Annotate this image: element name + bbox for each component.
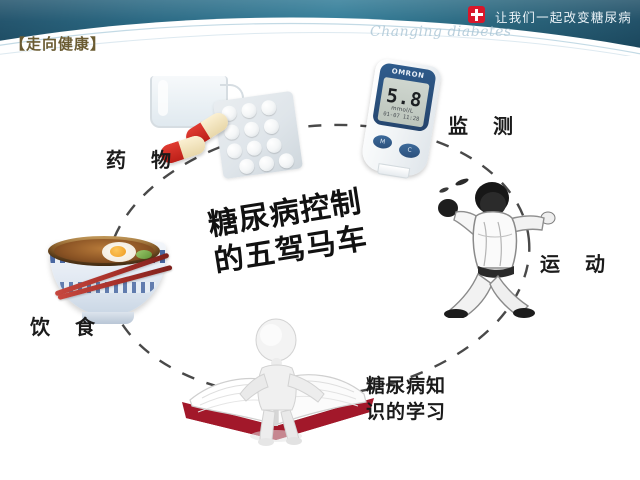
node-label-learning-line1: 糖尿病知: [366, 375, 446, 397]
book-learning-illustration: [178, 306, 378, 456]
page-title: 【走向健康】: [10, 33, 106, 54]
meter-screen: 5.8 mmol/L 01-07 11:28: [377, 77, 429, 128]
slide-root: Changing diabetes 让我们一起改变糖尿病 【走向健康】: [0, 0, 640, 480]
changing-diabetes-text: Changing diabetes: [370, 24, 512, 40]
node-label-diet: 饮 食: [30, 311, 104, 340]
node-label-drug: 药 物: [106, 144, 180, 173]
header-tagline: 让我们一起改变糖尿病: [495, 7, 632, 26]
node-label-monitor: 监 测: [448, 110, 522, 139]
node-label-learning-line2: 识的学习: [366, 401, 446, 423]
egg-yolk: [110, 246, 126, 257]
slide-header: Changing diabetes 让我们一起改变糖尿病 【走向健康】: [0, 0, 640, 56]
pill-blister-pack-icon: [213, 91, 303, 179]
red-cross-icon: [468, 6, 485, 23]
node-label-learning: 糖尿病知 识的学习: [366, 374, 486, 425]
taichi-exercise-illustration: [432, 174, 560, 318]
diagram-canvas: 药 物 OMRON 5.8 mmol/L 01-07 11:28 M C 监 测: [0, 56, 640, 480]
node-label-sport: 运 动: [540, 248, 614, 277]
